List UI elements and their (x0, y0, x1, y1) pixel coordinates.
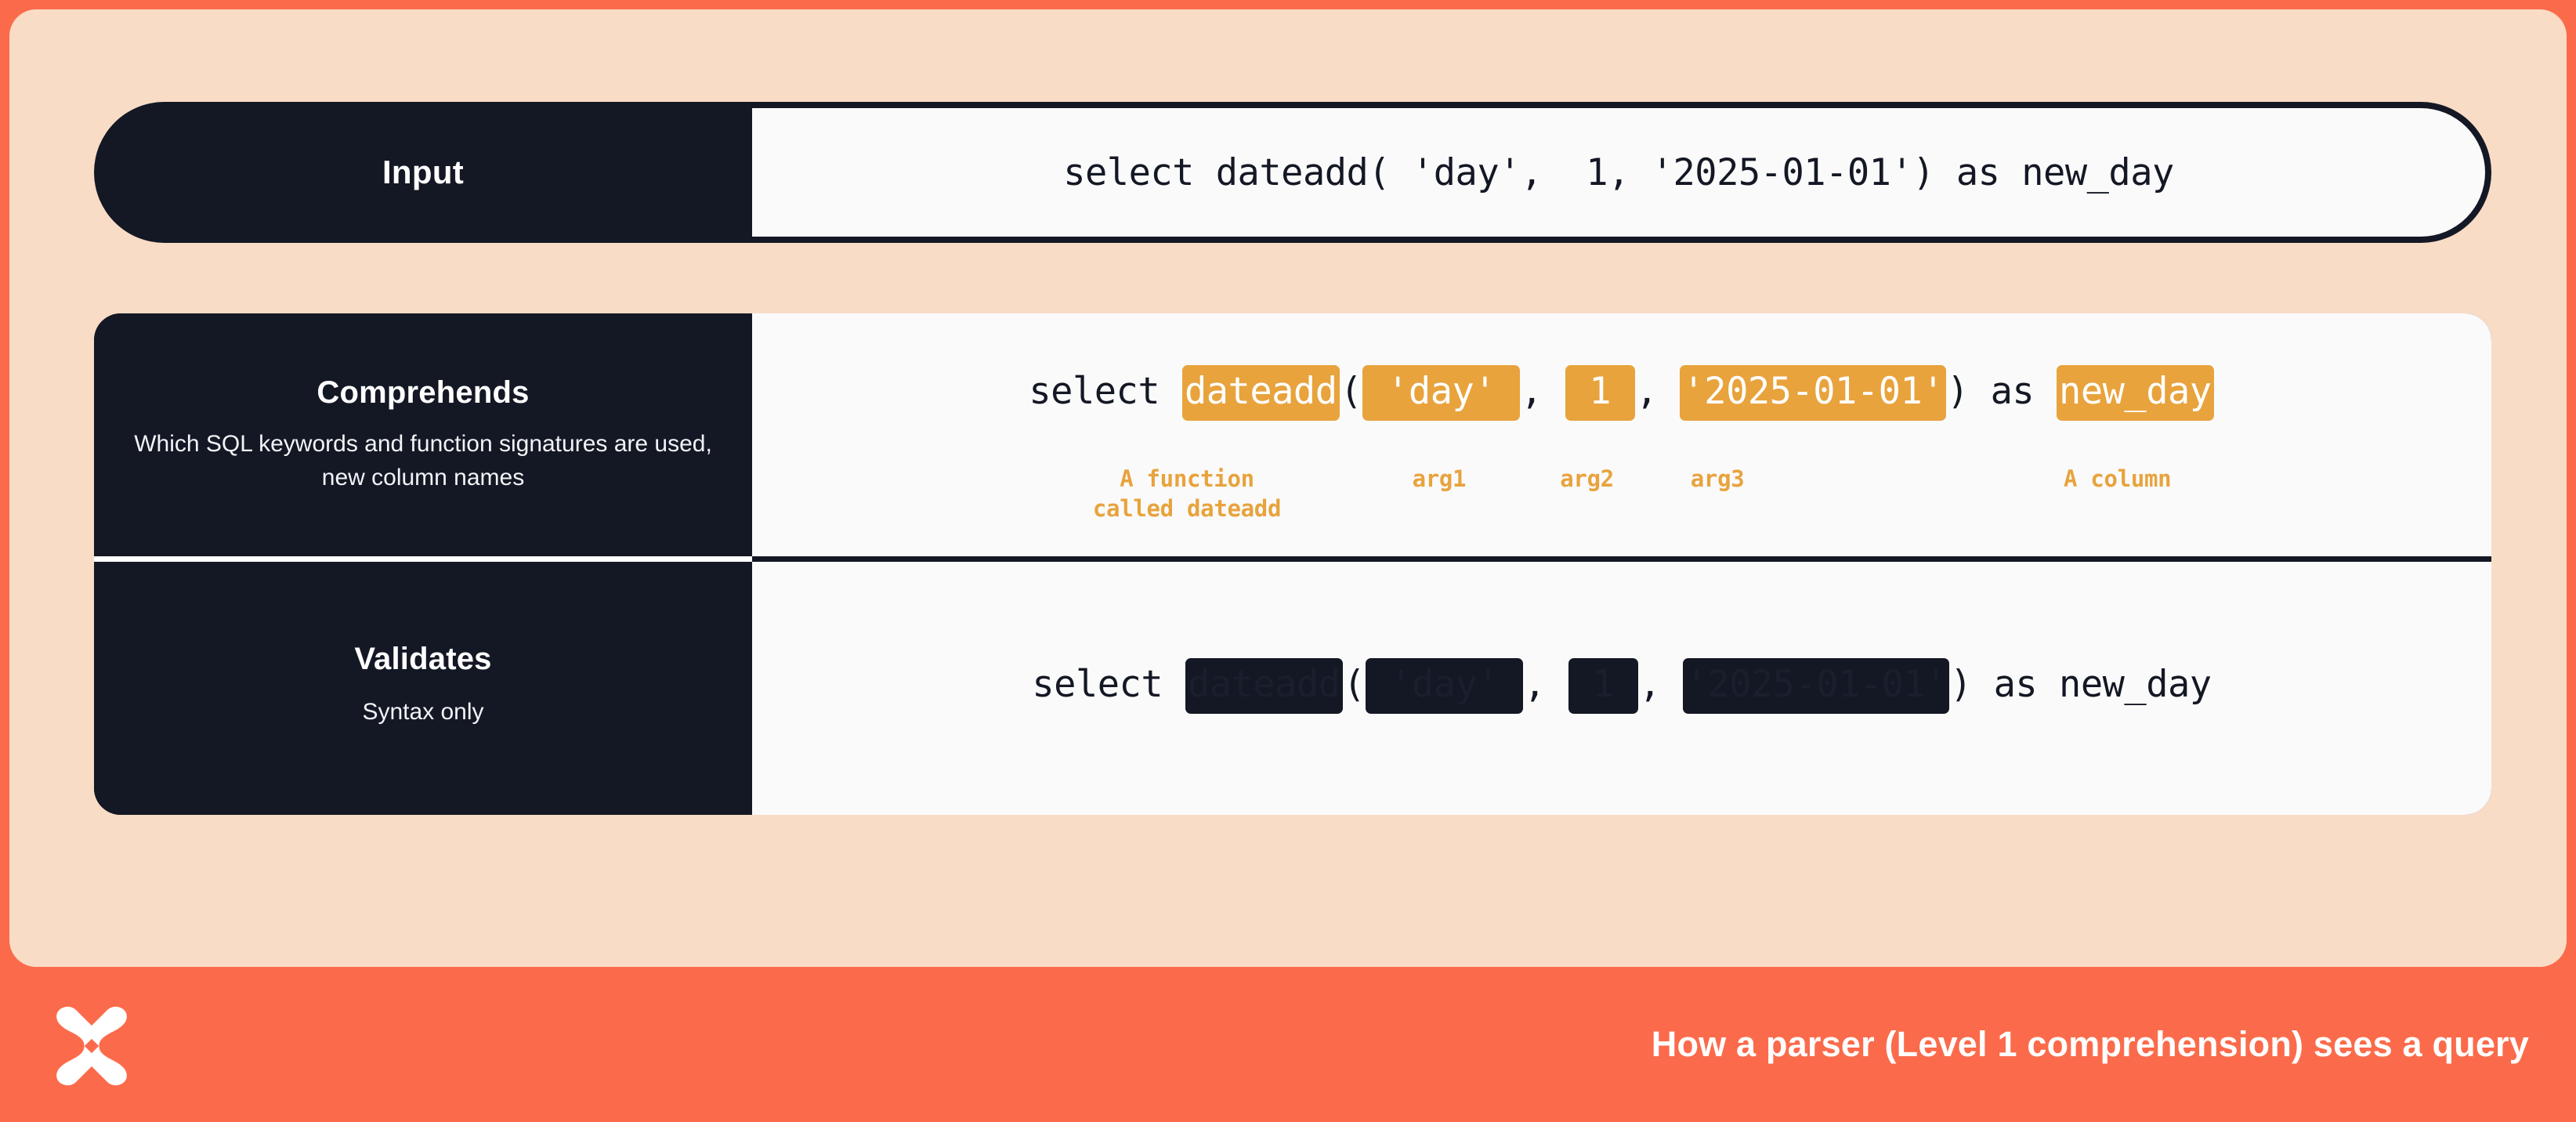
validates-code-area: select dateadd( 'day' , 1 , '2025-01-01'… (752, 556, 2491, 815)
code-token-marked: 1 (1568, 658, 1638, 714)
validates-body: select dateadd( 'day' , 1 , '2025-01-01'… (752, 556, 2491, 815)
code-token: ) as new_day (1950, 663, 2212, 706)
token-annotation: A column (2064, 464, 2171, 494)
code-token-marked: 1 (1565, 365, 1635, 421)
code-token: , (1639, 663, 1683, 706)
validates-title: Validates (354, 642, 491, 677)
comprehends-body: select dateadd( 'day' , 1 , '2025-01-01'… (752, 313, 2491, 556)
butterfly-x-logo (45, 1000, 138, 1092)
input-row-label: Input (94, 102, 752, 243)
code-token-marked: '2025-01-01' (1683, 658, 1949, 714)
comprehends-title: Comprehends (317, 375, 529, 411)
comprehends-description: Which SQL keywords and function signatur… (121, 428, 725, 494)
body-column-divider (752, 556, 2491, 562)
code-token: , (1524, 663, 1568, 706)
content-panel: Input select dateadd( 'day', 1, '2025-01… (9, 9, 2567, 967)
comprehends-label-cell: Comprehends Which SQL keywords and funct… (94, 313, 752, 556)
code-token: ( (1340, 370, 1362, 413)
input-code-panel: select dateadd( 'day', 1, '2025-01-01') … (752, 108, 2485, 237)
infographic-frame: Input select dateadd( 'day', 1, '2025-01… (0, 0, 2576, 1122)
comprehends-code-area: select dateadd( 'day' , 1 , '2025-01-01'… (752, 365, 2491, 421)
footer-caption: How a parser (Level 1 comprehension) see… (1652, 1024, 2529, 1065)
code-token-marked: '2025-01-01' (1680, 365, 1946, 421)
input-row: Input select dateadd( 'day', 1, '2025-01… (94, 102, 2491, 243)
footer-bar: How a parser (Level 1 comprehension) see… (0, 967, 2576, 1122)
code-token: , (1636, 370, 1680, 413)
code-token-marked: dateadd (1182, 365, 1340, 421)
code-token: select (1032, 663, 1185, 706)
code-token: select (1029, 370, 1181, 413)
validates-query-text: select dateadd( 'day' , 1 , '2025-01-01'… (1032, 658, 2211, 714)
code-token-marked: 'day' (1366, 658, 1523, 714)
comprehends-row: Comprehends Which SQL keywords and funct… (94, 313, 2491, 556)
token-annotation: A function called dateadd (1093, 464, 1281, 524)
code-token-marked: 'day' (1362, 365, 1520, 421)
parser-card: Comprehends Which SQL keywords and funct… (94, 313, 2491, 815)
input-query-text: select dateadd( 'day', 1, '2025-01-01') … (752, 151, 2485, 194)
code-token: , (1521, 370, 1565, 413)
code-token: ( (1344, 663, 1366, 706)
label-column-divider (94, 556, 752, 562)
code-token: ) as (1947, 370, 2056, 413)
validates-label-cell: Validates Syntax only (94, 556, 752, 815)
comprehends-query-text: select dateadd( 'day' , 1 , '2025-01-01'… (1029, 365, 2214, 421)
validates-row: Validates Syntax only select dateadd( 'd… (94, 556, 2491, 815)
code-token-marked: new_day (2057, 365, 2214, 421)
token-annotation: arg2 (1560, 464, 1614, 494)
token-annotations: A function called dateaddarg1arg2arg3A c… (752, 464, 2491, 550)
token-annotation: arg1 (1413, 464, 1467, 494)
code-token-marked: dateadd (1185, 658, 1343, 714)
validates-description: Syntax only (362, 696, 483, 729)
token-annotation: arg3 (1691, 464, 1745, 494)
